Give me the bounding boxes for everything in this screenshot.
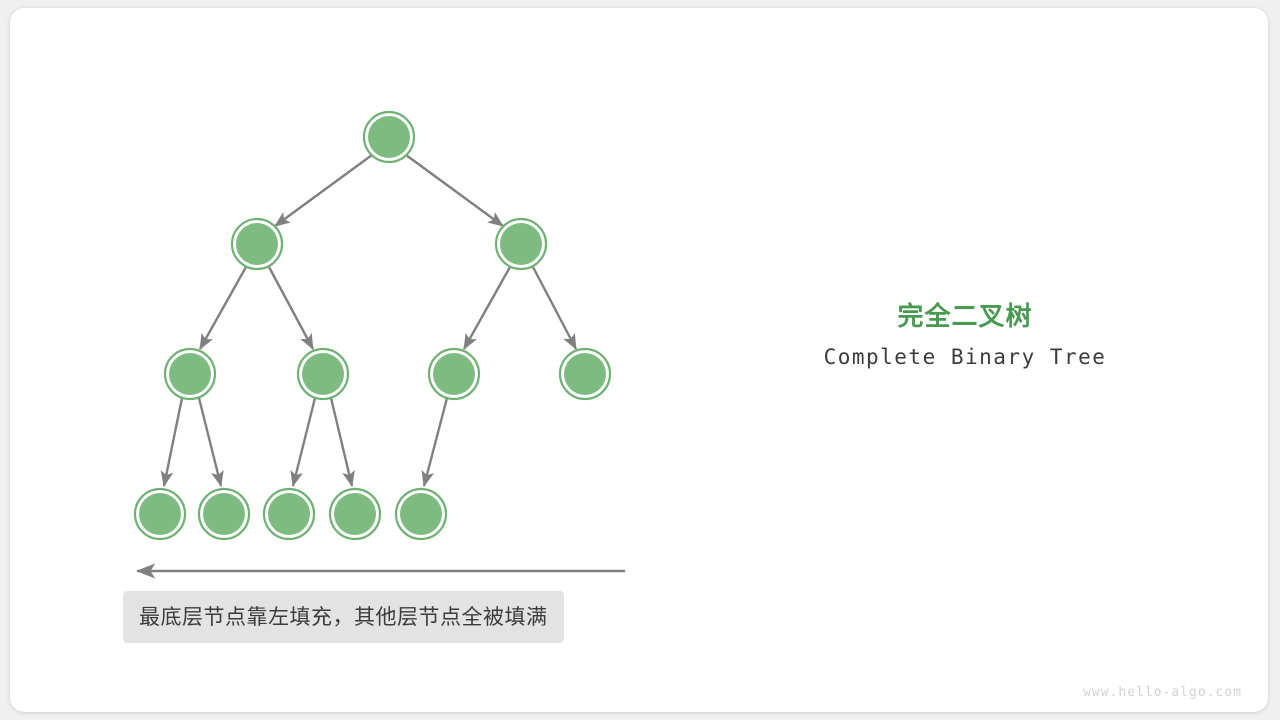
caption-label: 最底层节点靠左填充，其他层节点全被填满 [123,591,564,643]
tree-node-n7[interactable] [560,349,610,399]
tree-node-n4[interactable] [165,349,215,399]
tree-edges [164,155,576,486]
edge-n1-n2 [275,155,372,226]
tree-node-n3[interactable] [496,219,546,269]
tree-nodes [135,112,610,539]
title-chinese: 完全二叉树 [750,296,1180,333]
edge-n2-n5 [269,267,313,349]
edge-n1-n3 [406,155,503,226]
tree-node-n12[interactable] [396,489,446,539]
edge-n3-n6 [464,267,510,349]
tree-node-n8[interactable] [135,489,185,539]
edge-n5-n11 [331,398,352,486]
edge-n2-n4 [200,267,246,349]
tree-node-n10[interactable] [264,489,314,539]
tree-node-n5[interactable] [298,349,348,399]
tree-node-n9[interactable] [199,489,249,539]
tree-node-n1[interactable] [364,112,414,162]
title-english: Complete Binary Tree [750,345,1180,369]
tree-node-n2[interactable] [232,219,282,269]
edge-n4-n9 [199,398,221,486]
edge-n3-n7 [533,267,576,349]
tree-node-n6[interactable] [429,349,479,399]
edge-n5-n10 [293,398,315,486]
edge-n4-n8 [164,398,182,486]
figure-card: 完全二叉树 Complete Binary Tree 最底层节点靠左填充，其他层… [10,8,1268,712]
watermark-url: www.hello-algo.com [1083,685,1242,700]
edge-n6-n12 [424,398,447,486]
tree-node-n11[interactable] [330,489,380,539]
